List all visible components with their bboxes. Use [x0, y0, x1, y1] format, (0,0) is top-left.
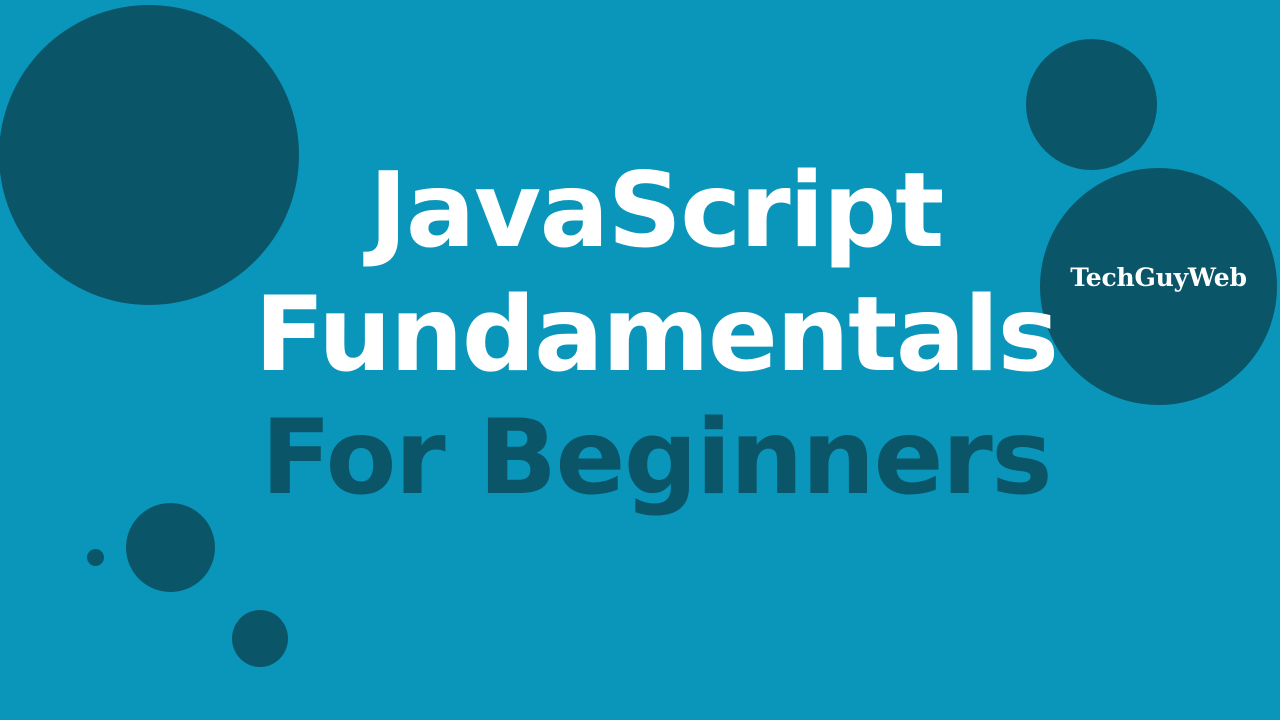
title-line-javascript: JavaScript	[32, 150, 1280, 274]
title-line-fundamentals: Fundamentals	[32, 274, 1280, 398]
decor-circle-left-dot	[87, 549, 104, 566]
page-title: JavaScript Fundamentals For Beginners	[0, 150, 1280, 521]
title-slide: TechGuyWeb JavaScript Fundamentals For B…	[0, 0, 1280, 720]
title-line-for-beginners: For Beginners	[32, 397, 1280, 521]
decor-circle-left-bottom	[232, 610, 288, 667]
